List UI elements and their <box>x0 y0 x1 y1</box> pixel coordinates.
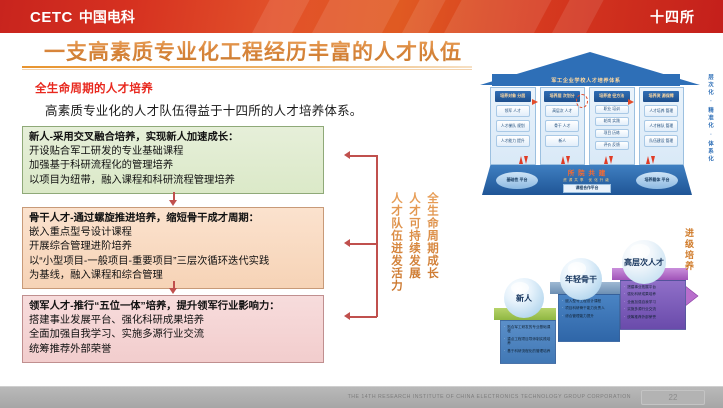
pillar-heading: 培养资 源保障 <box>643 91 679 102</box>
step-bullet: ·统筹推荐外部荣誉 <box>624 315 682 319</box>
box-line: 全面加强自我学习、实施多源行业交流 <box>29 328 317 342</box>
arrow-down-icon <box>169 200 177 206</box>
base-center-title: 所 院 共 建 <box>563 167 611 177</box>
pillar-cell: 人才梯队 规划 <box>496 120 530 132</box>
pillar-cell: 人才梯队 管理 <box>644 120 678 132</box>
step-bullet-text: 统筹推荐外部荣誉 <box>627 315 656 319</box>
step-bullet-text: 实施多源行业交流 <box>627 307 656 311</box>
vertical-slogan: 人才队伍迸发活力 <box>388 192 404 292</box>
roof-title-band: 军工企业学校人才培养体系 <box>492 74 680 86</box>
talent-box-newcomer: 新人-采用交叉融合培养，实现新人加速成长： 开设贴合军工研发的专业基础课程 加强… <box>22 126 324 194</box>
box-line: 以“小型项目-一般项目-重要项目”三层次循环迭代实践 <box>29 255 317 269</box>
house-side-label: 层次化 · 精准化 · 体系化 <box>706 74 714 163</box>
footer-org-name: THE 14TH RESEARCH INSTITUTE OF CHINA ELE… <box>348 394 631 400</box>
vertical-slogan: 人才可持续发展 <box>406 192 422 292</box>
pillar-cell: 人才能力 提升 <box>496 135 530 147</box>
step-bullet-text: 搭建事业拓展平台 <box>627 285 656 289</box>
up-down-arrow-icon <box>604 156 613 164</box>
arrow-right-icon <box>628 99 634 105</box>
box-heading: 领军人才-推行“五位一体”培养，提升领军行业影响力： <box>29 300 317 314</box>
step-label: 高层次人才 <box>624 258 664 267</box>
step-body-backbone: ·嵌入型号工程设计课程 ·项目科研骨干能力负责人 ·综合管理能力提升 <box>558 294 620 342</box>
pillar-cell: 骨干 人才 <box>545 120 579 132</box>
section-subheading: 全生命周期的人才培养 <box>35 80 153 96</box>
step-bullet-text: 综合管理能力提升 <box>565 314 594 318</box>
box-line: 开设贴合军工研发的专业基础课程 <box>29 145 317 159</box>
step-bullet-text: 贴合军工研发的专业基础课程 <box>507 325 552 334</box>
logo-text-en: CETC <box>30 9 73 26</box>
vertical-slogan-group: 全生命周期成长 人才可持续发展 人才队伍迸发活力 <box>388 192 440 292</box>
step-bullet: ·全面加强自我学习 <box>624 300 682 304</box>
box-line: 嵌入重点型号设计课程 <box>29 226 317 240</box>
header-stripe <box>244 0 316 33</box>
step-bullet-text: 强化科研成果培养 <box>627 292 656 296</box>
step-label: 年轻骨干 <box>565 275 597 284</box>
flow-arrow-group <box>502 156 672 164</box>
pillar-cell: 轮岗 实践 <box>595 117 629 126</box>
house-base: 基础性 平台 所 院 共 建 资源共享 优化升级 课程合作平台 培养载体 平台 <box>482 165 692 195</box>
box-line: 以项目为纽带，融入课程和科研流程管理培养 <box>29 174 317 188</box>
step-bullet: ·基于科研流程化的管理培养 <box>504 349 552 353</box>
slide-footer: THE 14TH RESEARCH INSTITUTE OF CHINA ELE… <box>0 386 723 408</box>
arrow-left-icon <box>344 312 350 320</box>
step-bullet: ·项目科研骨干能力负责人 <box>562 306 616 310</box>
up-down-arrow-icon <box>646 156 655 164</box>
step-bullet: ·搭建事业拓展平台 <box>624 285 682 289</box>
header-stripe <box>304 0 406 33</box>
pillar-cell: 职业 培训 <box>595 105 629 114</box>
cetc-logo: CETC 中国电科 <box>30 7 135 27</box>
step-bullet-text: 基于科研流程化的管理培养 <box>507 349 550 353</box>
base-center-block: 所 院 共 建 资源共享 优化升级 课程合作平台 <box>563 167 611 193</box>
step-body-leader: ·搭建事业拓展平台 ·强化科研成果培养 ·全面加强自我学习 ·实施多源行业交流 … <box>620 280 686 330</box>
pillar-heading: 培养对象 分层 <box>495 91 531 102</box>
box-line: 开展综合管理进阶培养 <box>29 240 317 254</box>
pillar-column: 培养资 源保障 人才培养 管理 人才梯队 管理 队伍建设 管理 <box>639 87 685 165</box>
header-stripe <box>394 0 452 33</box>
box-line: 加强基于科研流程化的管理培养 <box>29 159 317 173</box>
arrow-left-icon <box>344 151 350 159</box>
rail-branch <box>350 316 377 318</box>
step-bullet: ·实施多源行业交流 <box>624 307 682 311</box>
base-center-tag: 课程合作平台 <box>563 184 611 193</box>
header-institute-label: 十四所 <box>650 7 695 27</box>
step-bullet-text: 全面加强自我学习 <box>627 300 656 304</box>
talent-box-backbone: 骨干人才-通过螺旋推进培养，缩短骨干成才周期： 嵌入重点型号设计课程 开展综合管… <box>22 207 324 289</box>
step-sphere-leader: 高层次人才 <box>622 240 666 284</box>
pillar-cell: 评价 反馈 <box>595 141 629 150</box>
pillar-cell: 项目 历练 <box>595 129 629 138</box>
pillar-heading: 培养途 径方法 <box>594 91 630 102</box>
rail-branch <box>350 243 377 245</box>
box-heading: 骨干人才-通过螺旋推进培养，缩短骨干成才周期： <box>29 212 317 226</box>
rail-branch <box>350 155 377 157</box>
header-stripe <box>436 0 558 33</box>
arrow-right-icon <box>532 99 538 105</box>
step-body-newcomer: ·贴合军工研发的专业基础课程 ·重点工程项目导师制实践培养 ·基于科研流程化的管… <box>500 320 556 364</box>
step-bullet-text: 项目科研骨干能力负责人 <box>565 306 605 310</box>
step-bullet: ·重点工程项目导师制实践培养 <box>504 337 552 346</box>
box-line: 统筹推荐外部荣誉 <box>29 343 317 357</box>
base-left-platform: 基础性 平台 <box>496 172 538 189</box>
section-lead-text: 高素质专业化的人才队伍得益于十四所的人才培养体系。 <box>45 100 363 119</box>
up-down-arrow-icon <box>561 156 570 164</box>
step-sphere-backbone: 年轻骨干 <box>560 258 602 300</box>
cycle-arrow-icon <box>576 94 588 108</box>
step-bullet: ·强化科研成果培养 <box>624 292 682 296</box>
box-line: 搭建事业发展平台、强化科研成果培养 <box>29 314 317 328</box>
up-down-arrow-icon <box>519 156 528 164</box>
title-divider-secondary <box>22 69 472 70</box>
base-center-subtitle: 资源共享 优化升级 <box>563 178 611 183</box>
box-heading: 新人-采用交叉融合培养，实现新人加速成长： <box>29 131 317 145</box>
talent-box-leader: 领军人才-推行“五位一体”培养，提升领军行业影响力： 搭建事业发展平台、强化科研… <box>22 295 324 363</box>
rail-vertical <box>376 155 378 317</box>
roof-title: 军工企业学校人才培养体系 <box>551 77 620 84</box>
step-bullet-text: 重点工程项目导师制实践培养 <box>507 337 552 346</box>
pillar-cell: 领军 人才 <box>496 105 530 117</box>
step-bullet: ·综合管理能力提升 <box>562 314 616 318</box>
page-title: 一支高素质专业化工程经历丰富的人才队伍 <box>44 36 462 66</box>
vertical-slogan: 全生命周期成长 <box>424 192 440 292</box>
arrow-down-icon <box>169 288 177 294</box>
pillar-cell: 队伍建设 管理 <box>644 135 678 147</box>
pillar-cell: 人才培养 管理 <box>644 105 678 117</box>
step-bullet: ·嵌入型号工程设计课程 <box>562 299 616 303</box>
step-bullet: ·贴合军工研发的专业基础课程 <box>504 325 552 334</box>
base-right-platform: 培养载体 平台 <box>636 172 678 189</box>
pillar-cell: 新人 <box>545 135 579 147</box>
pillar-heading: 培养层 次划分 <box>544 91 580 102</box>
app-header: CETC 中国电科 十四所 <box>0 0 723 33</box>
logo-text-cn: 中国电科 <box>79 7 135 27</box>
arrow-left-icon <box>344 239 350 247</box>
page-number: 22 <box>641 390 705 405</box>
pillar-cell: 高层次 人才 <box>545 105 579 117</box>
step-label: 新人 <box>516 294 532 303</box>
header-stripe <box>544 0 610 33</box>
step-sphere-newcomer: 新人 <box>504 278 544 318</box>
progression-label: 进级培养 <box>683 228 696 272</box>
house-framework-diagram: 军工企业学校人才培养体系 培养对象 分层 领军 人才 人才梯队 规划 人才能力 … <box>472 52 712 182</box>
title-divider <box>22 66 472 68</box>
pillar-column: 培养对象 分层 领军 人才 人才梯队 规划 人才能力 提升 <box>490 87 536 165</box>
